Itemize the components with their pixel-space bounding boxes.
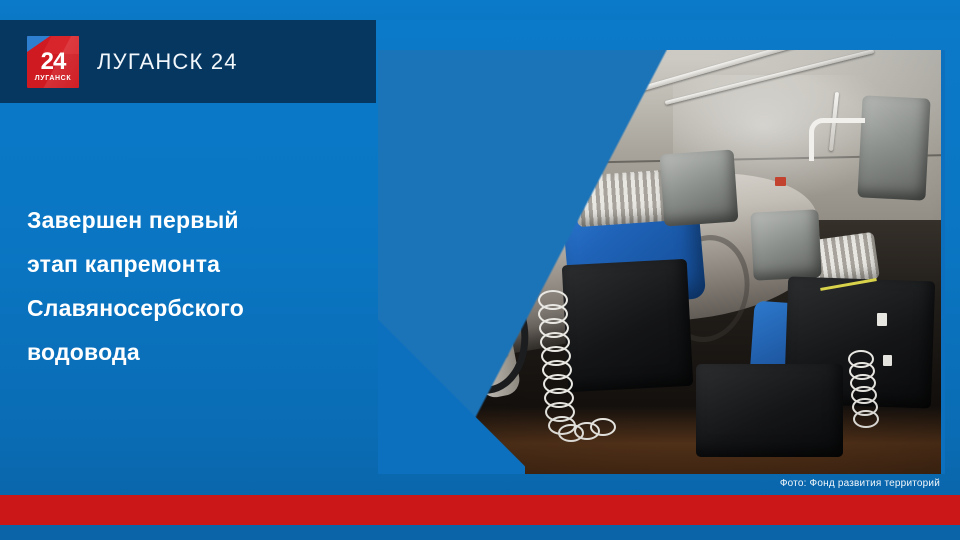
photo-actuator-box-left [562,259,693,393]
channel-header: 24 ЛУГАНСК ЛУГАНСК 24 [0,20,376,103]
photo-bellows-coupling-left [575,170,669,227]
photo-coil-ring [590,418,616,436]
photo-flange-bolt [446,226,459,237]
photo-equipment-label-1 [877,313,887,326]
photo-credit: Фото: Фонд развития территорий [780,478,940,489]
photo-flange-bolt [466,195,479,206]
photo-equipment-label-3 [775,177,786,186]
headline-line-4: водовода [27,330,347,374]
luhansk24-logo: 24 ЛУГАНСК [27,36,79,88]
logo-number: 24 [27,50,79,74]
photo-flange-bolt [474,239,487,250]
headline-line-1: Завершен первый [27,198,347,242]
news-photo [378,50,945,474]
photo-actuator-gearbox-2 [857,95,930,200]
photo-flange-bolt [470,217,483,228]
logo-caption: ЛУГАНСК [27,75,79,82]
photo-coil-ring [853,410,879,428]
photo-actuator-box-bottom [696,364,843,457]
channel-name: ЛУГАНСК 24 [97,49,238,75]
photo-flange-bolt [451,247,464,258]
photo-conduit-bend [809,118,865,161]
headline-line-2: этап капремонта [27,242,347,286]
photo-actuator-gearbox-3 [750,209,821,280]
photo-overlay-right-edge [941,50,945,474]
bottom-red-bar [0,495,960,525]
top-blue-strip [0,0,960,20]
headline-line-3: Славяносербского [27,286,347,330]
logo-divider [34,72,72,74]
photo-flange-bolt [442,204,455,215]
broadcast-slide: 24 ЛУГАНСК ЛУГАНСК 24 Завершен первый эт… [0,0,960,540]
bottom-blue-bar [0,525,960,540]
headline: Завершен первый этап капремонта Славянос… [27,198,347,374]
photo-equipment-label-2 [883,355,892,366]
photo-actuator-gearbox-1 [659,149,738,226]
